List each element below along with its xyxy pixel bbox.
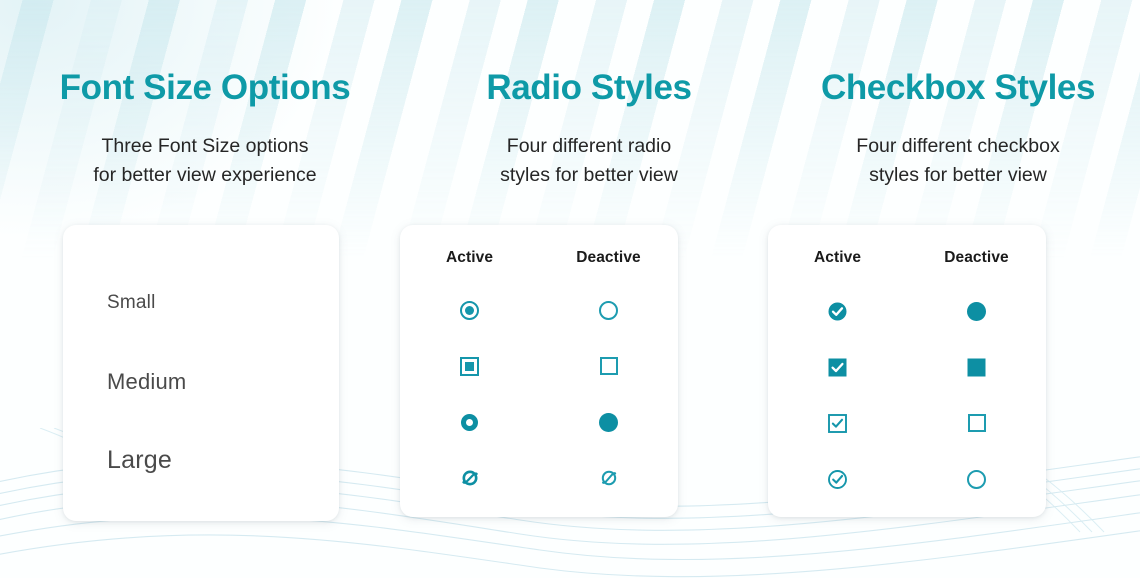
column-header-radio: Radio Styles Four different radio styles…: [400, 70, 768, 190]
subtitle-font-size: Three Font Size options for better view …: [10, 132, 400, 191]
subtitle-radio: Four different radio styles for better v…: [410, 132, 768, 191]
checkbox-row-2: [768, 339, 1046, 395]
radio-row-3: [400, 394, 678, 450]
checkbox-cell-deactive-4[interactable]: [907, 470, 1046, 489]
radio-slashed-circle-icon[interactable]: [598, 467, 620, 489]
radio-matrix-header: Active Deactive: [400, 249, 678, 267]
check-circle-filled-icon[interactable]: [827, 301, 848, 322]
radio-cell-deactive-2[interactable]: [539, 357, 678, 375]
radio-row-2: [400, 338, 678, 394]
radio-ring-dot-icon[interactable]: [460, 301, 479, 320]
radio-donut-icon[interactable]: [461, 414, 478, 431]
radio-row-1: [400, 282, 678, 338]
subtitle-line-2: styles for better view: [410, 161, 768, 190]
column-label-deactive: Deactive: [907, 249, 1046, 267]
font-size-option-medium[interactable]: Medium: [107, 342, 339, 421]
checkbox-row-3: [768, 395, 1046, 451]
checkbox-cell-deactive-1[interactable]: [907, 302, 1046, 321]
radio-cell-deactive-3[interactable]: [539, 413, 678, 432]
radio-cell-deactive-1[interactable]: [539, 301, 678, 320]
subtitle-line-1: Three Font Size options: [10, 132, 400, 161]
column-font-size: Font Size Options Three Font Size option…: [0, 0, 400, 521]
column-header-font-size: Font Size Options Three Font Size option…: [0, 70, 400, 190]
checkbox-cell-deactive-2[interactable]: [907, 357, 1046, 378]
check-circle-outline-icon[interactable]: [827, 469, 848, 490]
radio-cell-active-4[interactable]: [400, 467, 539, 489]
subtitle-line-2: styles for better view: [776, 161, 1140, 190]
subtitle-line-1: Four different radio: [410, 132, 768, 161]
column-label-deactive: Deactive: [539, 249, 678, 267]
check-square-outline-icon[interactable]: [827, 413, 848, 434]
radio-slashed-ring-icon[interactable]: [459, 467, 481, 489]
radio-cell-active-2[interactable]: [400, 357, 539, 376]
page-root: Font Size Options Three Font Size option…: [0, 0, 1140, 578]
radio-square-dot-icon[interactable]: [460, 357, 479, 376]
radio-square-empty-icon[interactable]: [600, 357, 618, 375]
circle-filled-icon[interactable]: [967, 302, 986, 321]
checkbox-row-4: [768, 451, 1046, 507]
radio-row-4: [400, 450, 678, 506]
checkbox-matrix-header: Active Deactive: [768, 249, 1046, 267]
checkbox-cell-active-4[interactable]: [768, 469, 907, 490]
column-header-checkbox: Checkbox Styles Four different checkbox …: [768, 70, 1140, 190]
radio-cell-active-1[interactable]: [400, 301, 539, 320]
check-square-filled-icon[interactable]: [827, 357, 848, 378]
subtitle-line-2: for better view experience: [10, 161, 400, 190]
column-checkbox-styles: Checkbox Styles Four different checkbox …: [768, 0, 1140, 521]
radio-ring-empty-icon[interactable]: [599, 301, 618, 320]
subtitle-checkbox: Four different checkbox styles for bette…: [776, 132, 1140, 191]
column-label-active: Active: [768, 249, 907, 267]
square-filled-icon[interactable]: [966, 357, 987, 378]
square-outline-icon[interactable]: [968, 414, 986, 432]
checkbox-row-1: [768, 283, 1046, 339]
card-checkbox-styles: Active Deactive: [768, 225, 1046, 517]
radio-cell-active-3[interactable]: [400, 414, 539, 431]
checkbox-cell-active-2[interactable]: [768, 357, 907, 378]
checkbox-cell-active-1[interactable]: [768, 301, 907, 322]
column-label-active: Active: [400, 249, 539, 267]
checkbox-cell-active-3[interactable]: [768, 413, 907, 434]
page-title-font-size: Font Size Options: [10, 70, 400, 107]
column-radio-styles: Radio Styles Four different radio styles…: [400, 0, 768, 521]
subtitle-line-1: Four different checkbox: [776, 132, 1140, 161]
font-size-option-large[interactable]: Large: [107, 421, 339, 500]
columns-container: Font Size Options Three Font Size option…: [0, 0, 1140, 521]
circle-outline-icon[interactable]: [967, 470, 986, 489]
card-font-size-options: Small Medium Large: [63, 225, 339, 521]
radio-disc-filled-icon[interactable]: [599, 413, 618, 432]
checkbox-cell-deactive-3[interactable]: [907, 414, 1046, 432]
card-radio-styles: Active Deactive: [400, 225, 678, 517]
font-size-option-small[interactable]: Small: [107, 263, 339, 342]
page-title-radio: Radio Styles: [410, 70, 768, 107]
page-title-checkbox: Checkbox Styles: [776, 70, 1140, 107]
radio-cell-deactive-4[interactable]: [539, 467, 678, 489]
